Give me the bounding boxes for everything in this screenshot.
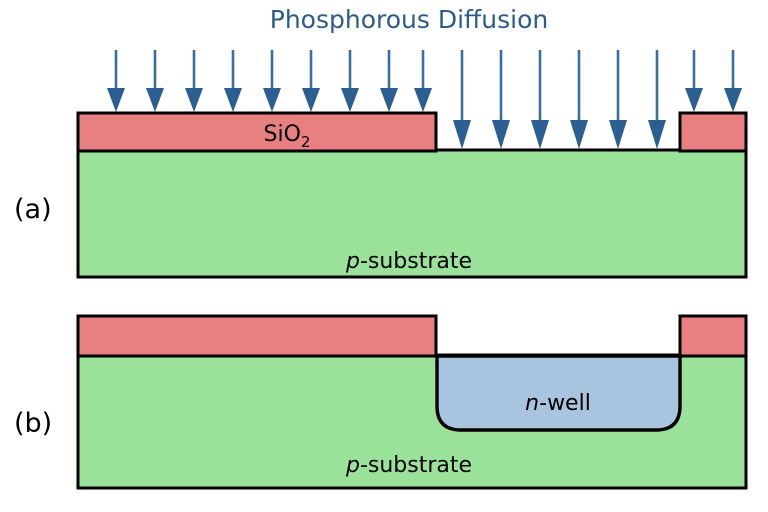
panel-b-letter: (b) — [14, 408, 52, 439]
down-arrow-icon — [107, 50, 125, 112]
panel-a-oxide-right — [680, 113, 746, 151]
down-arrow-icon — [185, 50, 203, 112]
panel-b-oxide-right — [680, 316, 746, 356]
panel-b: n-well p-substrate (b) — [14, 316, 746, 488]
down-arrow-icon — [453, 50, 471, 149]
nwell-label: n-well — [525, 391, 591, 416]
figure-title: Phosphorous Diffusion — [270, 5, 548, 34]
down-arrow-icon — [570, 50, 588, 149]
panel-a-letter: (a) — [14, 194, 52, 225]
down-arrow-icon — [414, 50, 432, 112]
down-arrow-icon — [531, 50, 549, 149]
down-arrow-icon — [492, 50, 510, 149]
down-arrow-icon — [341, 50, 359, 112]
down-arrow-icon — [724, 50, 742, 112]
down-arrow-icon — [224, 50, 242, 112]
down-arrow-icon — [648, 50, 666, 149]
semiconductor-process-diagram: Phosphorous Diffusion — [0, 0, 768, 512]
down-arrow-icon — [380, 50, 398, 112]
panel-b-substrate-label: p-substrate — [345, 453, 472, 478]
figure-canvas: Phosphorous Diffusion — [0, 0, 768, 512]
arrows-over-window — [453, 50, 666, 149]
down-arrow-icon — [146, 50, 164, 112]
down-arrow-icon — [609, 50, 627, 149]
down-arrow-icon — [263, 50, 281, 112]
arrows-over-oxide-left — [107, 50, 432, 112]
panel-b-oxide-left — [78, 316, 436, 356]
panel-a-oxide-left — [78, 113, 436, 151]
down-arrow-icon — [685, 50, 703, 112]
arrows-over-oxide-right — [685, 50, 742, 112]
panel-a: SiO2 p-substrate (a) — [14, 113, 746, 277]
down-arrow-icon — [302, 50, 320, 112]
panel-a-substrate-label: p-substrate — [345, 249, 472, 274]
